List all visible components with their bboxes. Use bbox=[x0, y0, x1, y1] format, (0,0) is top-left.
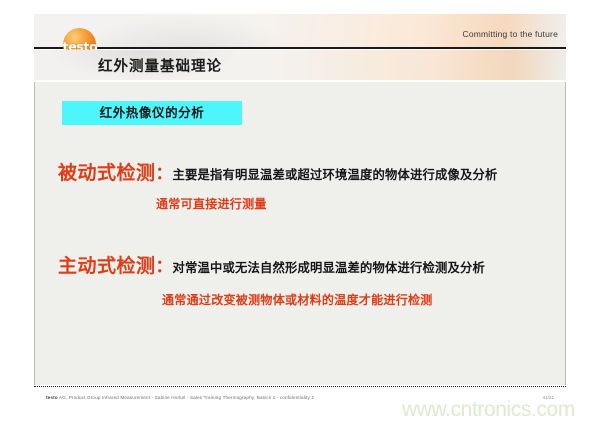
header-divider-rule bbox=[34, 47, 566, 49]
block-description: 对常温中或无法自然形成明显温差的物体进行检测及分析 bbox=[173, 260, 485, 275]
site-watermark: www.cntronics.com bbox=[402, 398, 575, 422]
footer-credit-text: AG, Product Group Infrared Measurement ·… bbox=[58, 395, 314, 400]
content-panel bbox=[34, 82, 566, 385]
block-note: 通常可直接进行测量 bbox=[156, 195, 497, 212]
brand-tagline: Committing to the future bbox=[462, 29, 558, 39]
page-title: 红外测量基础理论 bbox=[98, 55, 222, 76]
content-block-heading-row: 被动式检测：主要是指有明显温差或超过环境温度的物体进行成像及分析 bbox=[58, 158, 497, 185]
slide-canvas: Committing to the future testo 红外测量基础理论 … bbox=[0, 0, 600, 424]
block-description: 主要是指有明显温差或超过环境温度的物体进行成像及分析 bbox=[173, 167, 498, 182]
block-lead-term: 被动式检测 bbox=[58, 162, 156, 184]
content-block-active: 主动式检测：对常温中或无法自然形成明显温差的物体进行检测及分析 通常通过改变被测… bbox=[58, 251, 485, 308]
content-block-heading-row: 主动式检测：对常温中或无法自然形成明显温差的物体进行检测及分析 bbox=[58, 251, 485, 278]
block-lead-colon: ： bbox=[156, 164, 173, 184]
block-note: 通常通过改变被测物体或材料的温度才能进行检测 bbox=[162, 291, 485, 308]
section-subtitle-label: 红外热像仪的分析 bbox=[62, 101, 242, 125]
block-lead-term: 主动式检测 bbox=[58, 255, 156, 277]
footer-company: testo bbox=[46, 395, 58, 400]
block-lead-colon: ： bbox=[156, 257, 173, 277]
footer-dotted-rule bbox=[34, 386, 566, 387]
section-subtitle-chip: 红外热像仪的分析 bbox=[62, 101, 242, 125]
footer-credit-line: testo AG, Product Group Infrared Measure… bbox=[46, 395, 314, 400]
content-block-passive: 被动式检测：主要是指有明显温差或超过环境温度的物体进行成像及分析 通常可直接进行… bbox=[58, 158, 497, 212]
